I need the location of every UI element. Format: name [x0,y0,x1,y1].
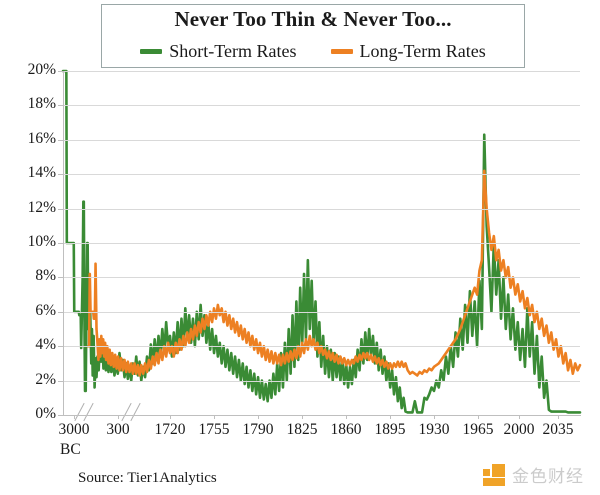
x-tick-label: 1825 [287,421,318,439]
x-tick-label: 1755 [199,421,230,439]
y-tick-label: 12% [8,199,56,217]
bc-era-label: BC [60,441,81,459]
x-tick-label: 2035 [543,421,574,439]
gridline [63,277,580,278]
y-tick-label: 8% [8,267,56,285]
y-tick-label: 10% [8,233,56,251]
y-tick-label: 18% [8,95,56,113]
x-axis-line [63,415,581,416]
y-axis-line [63,71,64,416]
gridline [63,346,580,347]
gridline [63,105,580,106]
watermark-logo-icon [483,464,505,486]
x-tick-label: 1790 [243,421,274,439]
legend: Short-Term Rates Long-Term Rates [101,41,525,62]
y-tick-label: 16% [8,130,56,148]
line-swatch-green-icon [140,49,162,54]
gridline [63,381,580,382]
x-tick-label: 3000 [59,421,90,439]
gridline [63,140,580,141]
gridline [63,312,580,313]
line-swatch-orange-icon [331,49,353,54]
legend-label-short-term: Short-Term Rates [169,41,296,62]
y-tick-label: 4% [8,336,56,354]
x-tick-label: 1860 [331,421,362,439]
y-tick-label: 20% [8,61,56,79]
x-tick-label: 1895 [375,421,406,439]
plot-area [63,71,580,415]
chart-container: 0%2%4%6%8%10%12%14%16%18%20% 30003001720… [0,0,600,495]
x-tick-label: 300 [106,421,129,439]
series-line-short-term [63,71,580,412]
gridline [63,174,580,175]
gridline [63,209,580,210]
y-tick-label: 2% [8,371,56,389]
legend-item-short-term[interactable]: Short-Term Rates [140,41,296,62]
x-tick-label: 1930 [419,421,450,439]
y-tick-label: 6% [8,302,56,320]
y-tick-label: 14% [8,164,56,182]
x-tick-label: 2000 [504,421,535,439]
gridline [63,71,580,72]
watermark-text: 金色财经 [512,462,584,487]
source-label: Source: Tier1Analytics [78,470,217,487]
x-tick-label: 1965 [463,421,494,439]
y-tick-label: 0% [8,405,56,423]
legend-label-long-term: Long-Term Rates [360,41,486,62]
watermark: 金色财经 [483,462,584,487]
x-tick-label: 1720 [155,421,186,439]
gridline [63,243,580,244]
legend-item-long-term[interactable]: Long-Term Rates [331,41,486,62]
page-title: Never Too Thin & Never Too... [101,7,525,32]
